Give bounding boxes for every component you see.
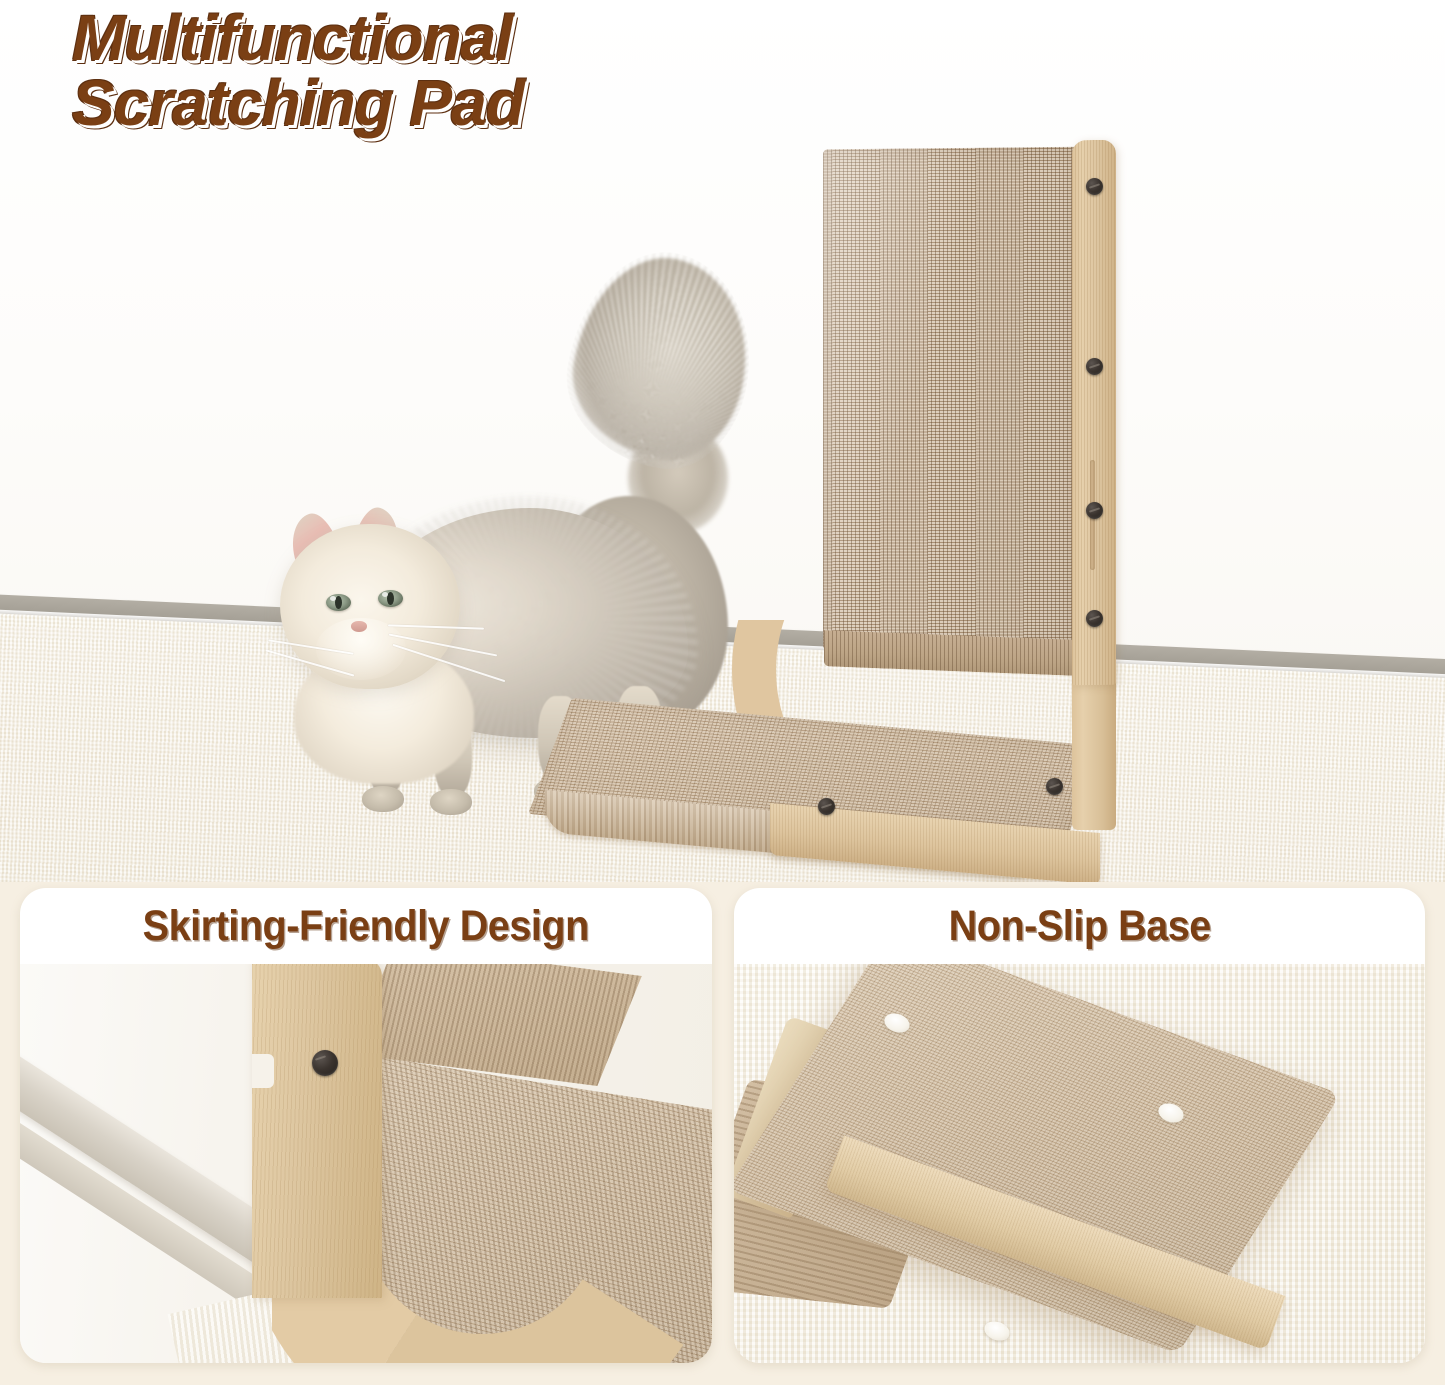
cat-eye-glint-right	[382, 592, 388, 597]
screw-rail-3	[1086, 502, 1103, 519]
feature-card-title-nonslip: Non-Slip Base	[761, 888, 1397, 964]
right-wooden-rail	[1072, 140, 1116, 685]
screw-rail-4	[1086, 610, 1103, 627]
cat-nose	[351, 621, 367, 632]
screw-rail-1	[1086, 178, 1103, 195]
feature-cards-row: Skirting-Friendly Design Non-Slip Base	[0, 884, 1445, 1385]
screw-base-rail	[818, 798, 835, 815]
detail-wood-panel	[252, 964, 382, 1298]
feature-photo-skirting	[20, 964, 712, 1363]
screw-rail-2	[1086, 358, 1103, 375]
vertical-scratching-panel	[823, 147, 1081, 650]
page-title: Multifunctional Scratching Pad	[72, 6, 832, 137]
detail-skirting-clearance-notch	[252, 1054, 274, 1088]
hero-photo: Multifunctional Scratching Pad	[0, 0, 1445, 882]
product-marketing-image: Multifunctional Scratching Pad Skirting-…	[0, 0, 1445, 1385]
cat-eye-left	[326, 594, 351, 611]
scratching-pad-product	[500, 140, 1120, 840]
cat-eye-glint-left	[330, 596, 336, 601]
cat-pupil-left	[335, 596, 342, 609]
cat-eye-right	[378, 590, 403, 607]
cat-pupil-right	[387, 592, 394, 605]
feature-card-skirting-friendly[interactable]: Skirting-Friendly Design	[20, 888, 712, 1363]
feature-photo-nonslip	[734, 964, 1426, 1363]
screw-bracket-lower	[1046, 778, 1063, 795]
detail-screw-upper	[312, 1050, 338, 1076]
feature-card-title-skirting: Skirting-Friendly Design	[48, 888, 684, 964]
feature-card-non-slip-base[interactable]: Non-Slip Base	[734, 888, 1426, 1363]
cat-front-paw-left	[362, 786, 404, 812]
cat-front-paw-right	[430, 789, 472, 815]
